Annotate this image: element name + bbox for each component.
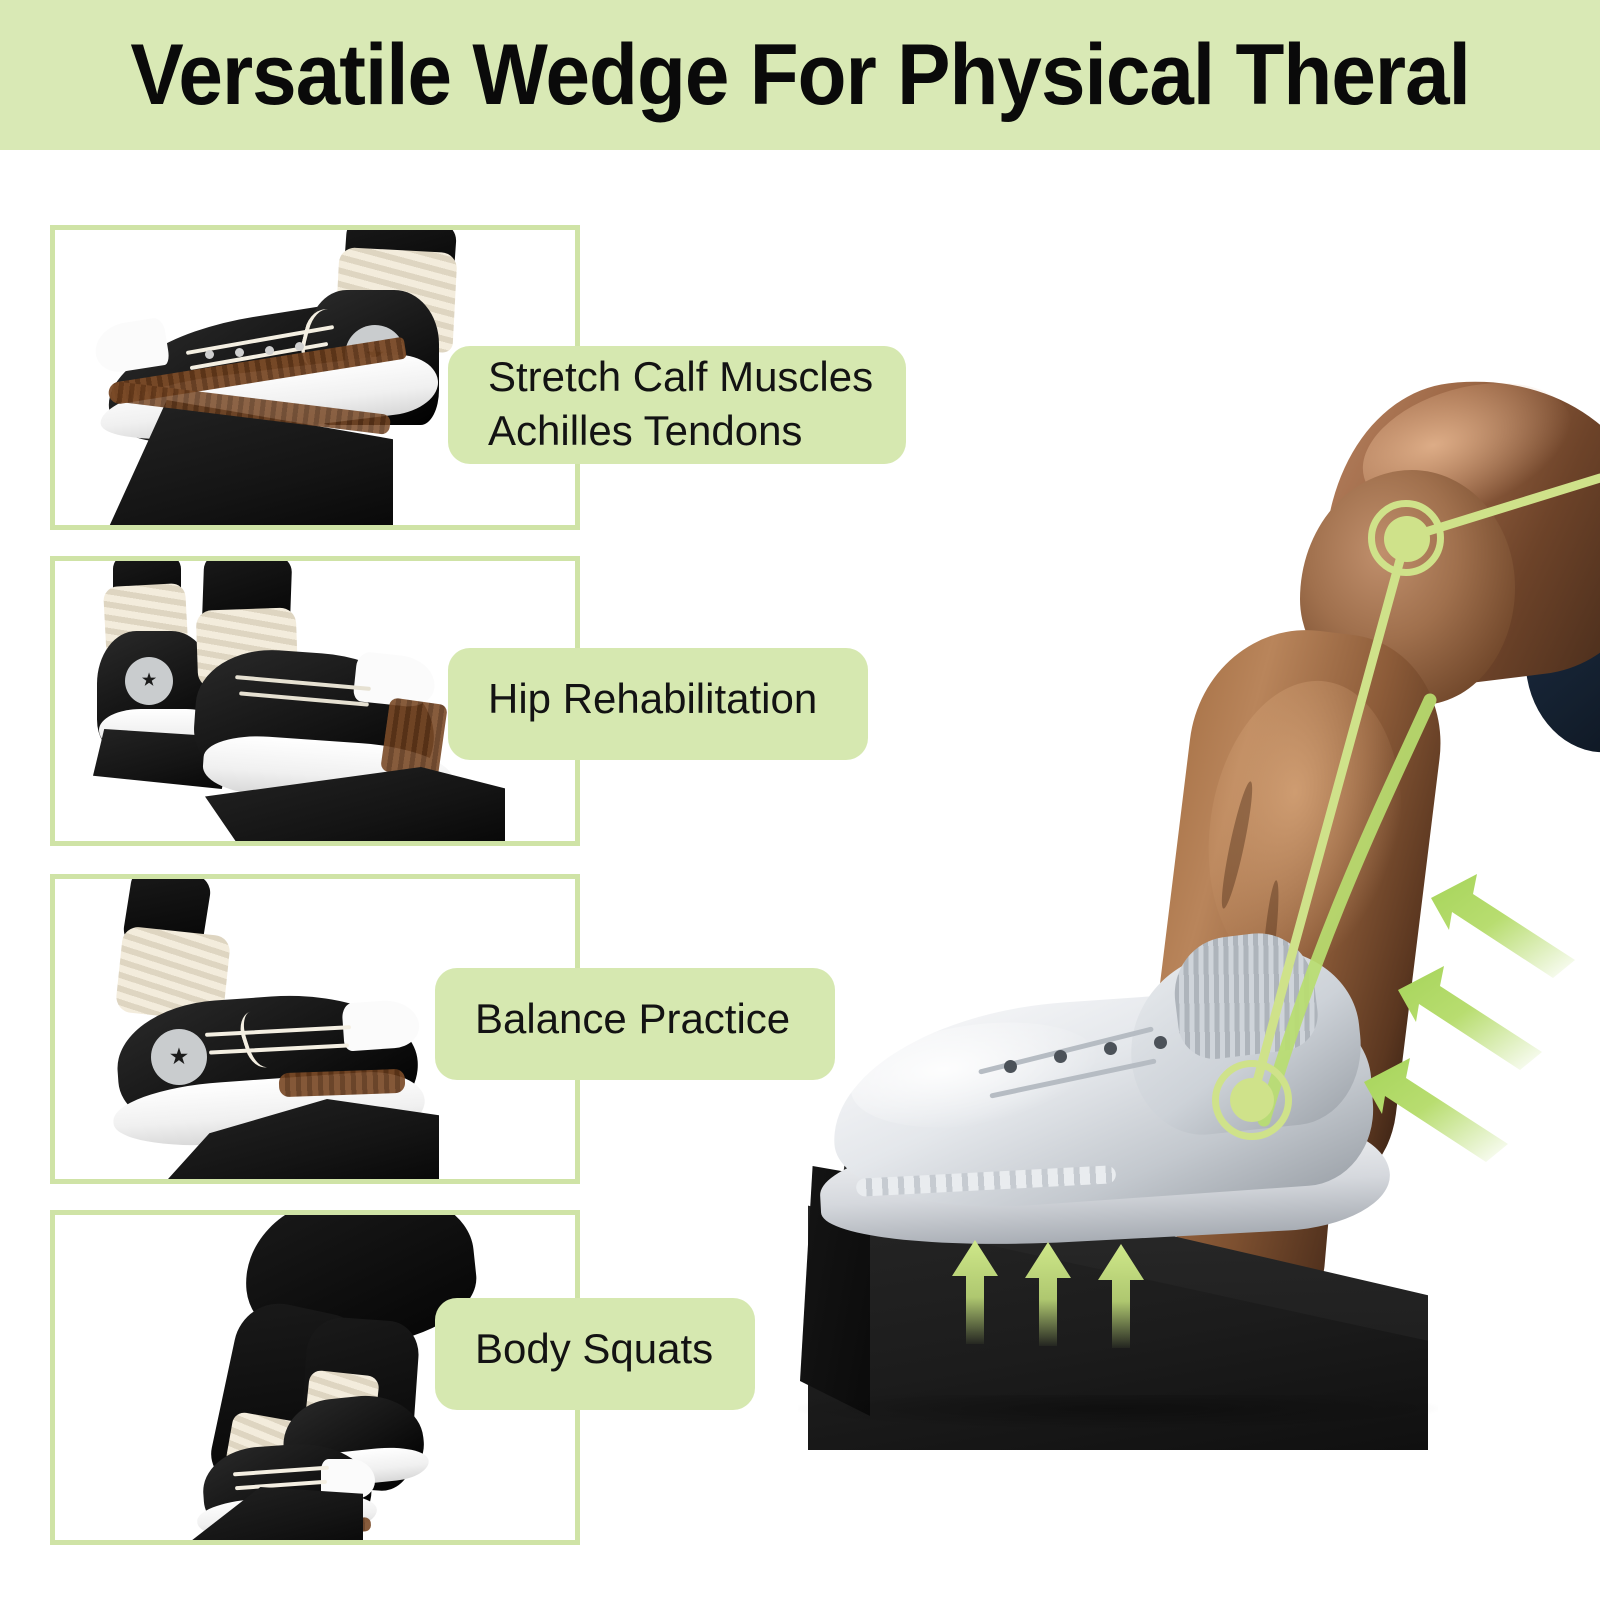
eyelet bbox=[265, 346, 274, 355]
page-title: Versatile Wedge For Physical Theral bbox=[130, 32, 1470, 118]
hero-illustration bbox=[760, 360, 1600, 1600]
feature-label-line-1: Body Squats bbox=[475, 1322, 727, 1376]
feature-label-body-squats: Body Squats bbox=[435, 1298, 755, 1410]
upward-force-arrow bbox=[952, 1240, 998, 1344]
eyelet bbox=[295, 342, 304, 351]
sole-tread-right bbox=[380, 697, 448, 778]
upward-force-arrow bbox=[1098, 1244, 1144, 1348]
feature-label-line-1: Balance Practice bbox=[475, 992, 807, 1046]
infographic-page: Versatile Wedge For Physical Theral ★ bbox=[0, 0, 1600, 1600]
shoelaces-right bbox=[235, 673, 375, 719]
star-icon: ★ bbox=[142, 673, 156, 689]
title-banner: Versatile Wedge For Physical Theral bbox=[0, 0, 1600, 150]
brand-logo-icon: ★ bbox=[125, 657, 173, 705]
ankle-joint-dot bbox=[1230, 1078, 1274, 1122]
shoelaces bbox=[205, 1019, 355, 1077]
eyelet bbox=[205, 350, 214, 359]
sole-tread bbox=[279, 1069, 406, 1097]
upward-force-arrow bbox=[1025, 1242, 1071, 1346]
calf-stretch-arrow bbox=[1358, 1052, 1528, 1162]
brand-logo-icon: ★ bbox=[151, 1029, 207, 1085]
knee-joint-dot bbox=[1384, 516, 1430, 562]
star-icon: ★ bbox=[170, 1047, 188, 1067]
eyelet bbox=[235, 348, 244, 357]
